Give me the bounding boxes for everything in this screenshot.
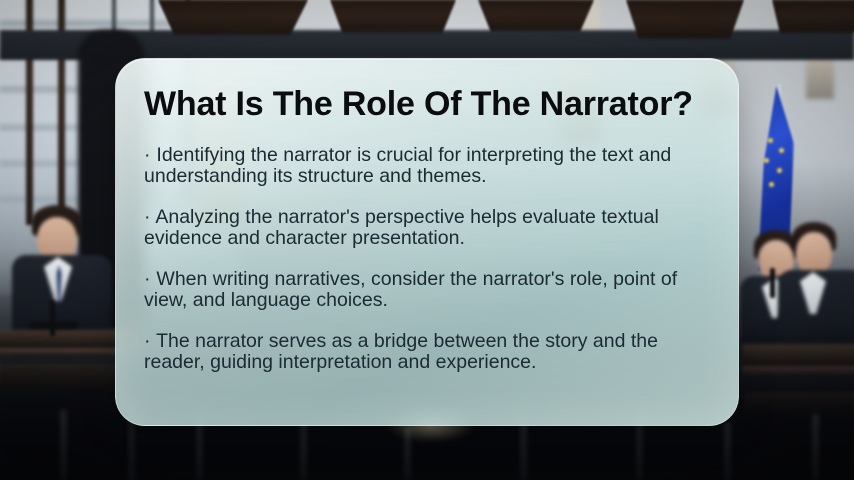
chair-leg	[724, 422, 731, 480]
list-item-text: Identifying the narrator is crucial for …	[144, 144, 671, 188]
ceiling-light-pod	[772, 0, 854, 34]
flag-star	[769, 182, 774, 187]
chair-leg	[60, 410, 67, 480]
ceiling-light-pod	[478, 0, 594, 32]
content-card: What Is The Role Of The Narrator? · Iden…	[115, 58, 739, 426]
bullet-marker: ·	[144, 206, 151, 228]
list-item: · Analyzing the narrator's perspective h…	[144, 207, 708, 250]
flag-star	[779, 148, 784, 153]
list-item-text: Analyzing the narrator's perspective hel…	[144, 206, 659, 250]
flag-star	[764, 158, 769, 163]
page-title: What Is The Role Of The Narrator?	[144, 87, 708, 123]
slide-canvas: What Is The Role Of The Narrator? · Iden…	[0, 0, 854, 480]
ceiling-light-pod	[626, 0, 744, 40]
bullet-marker: ·	[144, 330, 151, 352]
chair-leg	[196, 418, 203, 480]
chair-leg	[300, 422, 307, 480]
person-head	[796, 232, 832, 274]
ceiling-light-pod	[158, 0, 308, 36]
flag-star	[777, 168, 782, 173]
bullet-marker: ·	[144, 268, 151, 290]
bullet-list: · Identifying the narrator is crucial fo…	[144, 145, 708, 374]
ceiling-light-pod	[330, 0, 456, 34]
list-item: · The narrator serves as a bridge betwee…	[144, 331, 708, 374]
flag-star	[768, 138, 773, 143]
card-content: What Is The Role Of The Narrator? · Iden…	[116, 59, 738, 374]
list-item-text: The narrator serves as a bridge between …	[144, 330, 658, 374]
list-item-text: When writing narratives, consider the na…	[144, 268, 677, 312]
bullet-marker: ·	[144, 144, 151, 166]
microphone	[770, 268, 775, 298]
list-item: · When writing narratives, consider the …	[144, 269, 708, 312]
microphone-arm	[30, 322, 78, 329]
chair-leg	[812, 414, 819, 480]
list-item: · Identifying the narrator is crucial fo…	[144, 145, 708, 188]
